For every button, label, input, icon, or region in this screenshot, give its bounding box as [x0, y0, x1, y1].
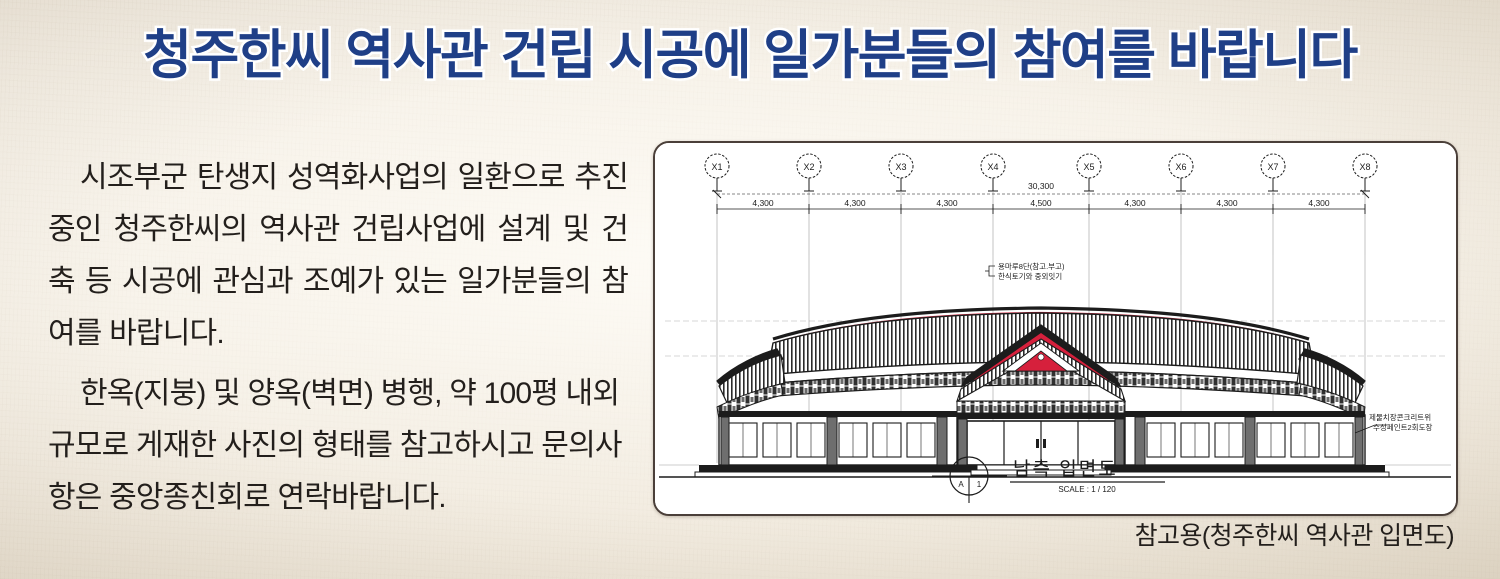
wall-annotation-line-1: 제물치장콘크리트위 — [1369, 412, 1431, 422]
title-container: 청주한씨 역사관 건립 시공에 일가분들의 참여를 바랍니다 — [0, 24, 1500, 88]
grid-label-x2: X2 — [803, 162, 814, 172]
bay-dimension-4: 4,500 — [1030, 198, 1052, 208]
body-paragraph-1: 시조부군 탄생지 성역화사업의 일환으로 추진 중인 청주한씨의 역사관 건립사… — [48, 152, 628, 360]
poster-banner: 청주한씨 역사관 건립 시공에 일가분들의 참여를 바랍니다 시조부군 탄생지 … — [0, 0, 1500, 579]
grid-label-x1: X1 — [711, 162, 722, 172]
grid-label-x6: X6 — [1175, 162, 1186, 172]
gable-center-medallion — [1038, 354, 1044, 360]
detail-bubble-label-right: 1 — [977, 480, 982, 489]
drawing-caption: 참고용(청주한씨 역사관 입면도) — [653, 519, 1454, 553]
wall-right-lintel — [1125, 411, 1365, 417]
wall-annotation-line-2: 수성페인트2회도장 — [1373, 422, 1432, 432]
roof-annotation-line-2: 한식토기와 중외잇기 — [998, 271, 1062, 281]
drawing-title: 남측 입면도 — [1013, 458, 1118, 480]
page-title: 청주한씨 역사관 건립 시공에 일가분들의 참여를 바랍니다 — [143, 24, 1357, 88]
grid-label-x8: X8 — [1359, 162, 1370, 172]
detail-bubble-label-left: A — [958, 480, 964, 489]
grid-label-x3: X3 — [895, 162, 906, 172]
bay-dimension-7: 4,300 — [1308, 198, 1330, 208]
bay-dimension-3: 4,300 — [936, 198, 958, 208]
wall-left — [719, 411, 957, 465]
roof-annotation-line-1: 용마루8단(참고.부고) — [998, 261, 1065, 271]
pavilion-bracket-band — [957, 401, 1125, 413]
bay-dimension-5: 4,300 — [1124, 198, 1146, 208]
wall-right — [1125, 411, 1365, 465]
grid-label-x5: X5 — [1083, 162, 1094, 172]
overall-dimension-label: 30,300 — [1028, 181, 1054, 191]
bay-dimension-2: 4,300 — [844, 198, 866, 208]
wall-left-lintel — [719, 411, 957, 417]
pavilion-lintel — [955, 413, 1127, 419]
drawing-scale: SCALE : 1 / 120 — [1058, 485, 1116, 494]
bay-dimension-1: 4,300 — [752, 198, 774, 208]
elevation-drawing-panel: X1 X2 X3 X4 X5 X6 X7 X8 — [653, 141, 1458, 516]
grid-label-x7: X7 — [1267, 162, 1278, 172]
elevation-drawing: X1 X2 X3 X4 X5 X6 X7 X8 — [655, 143, 1456, 514]
body-paragraph-2: 한옥(지붕) 및 양옥(벽면) 병행, 약 100평 내외 규모로 게재한 사진… — [48, 368, 628, 524]
bay-dimension-6: 4,300 — [1216, 198, 1238, 208]
grid-label-x4: X4 — [987, 162, 998, 172]
body-text-column: 시조부군 탄생지 성역화사업의 일환으로 추진 중인 청주한씨의 역사관 건립사… — [48, 152, 628, 524]
